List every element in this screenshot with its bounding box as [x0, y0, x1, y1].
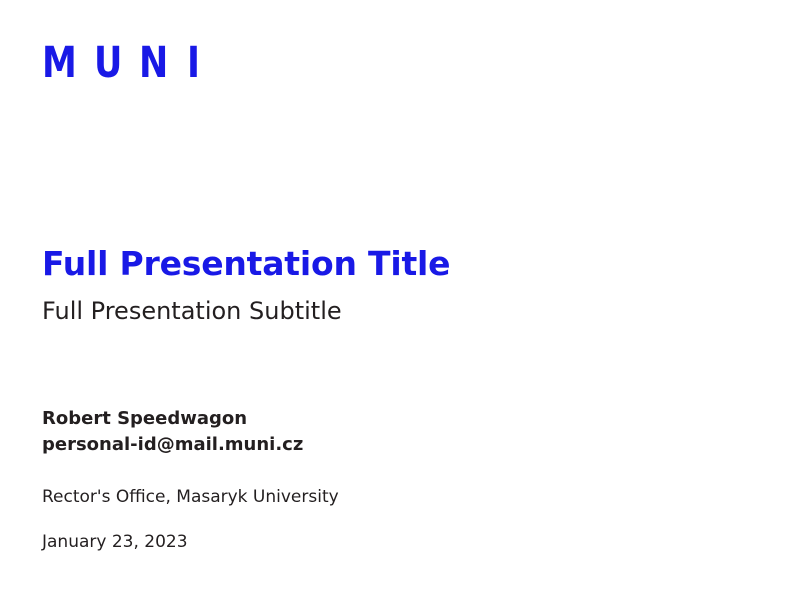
page-title: Full Presentation Title — [42, 243, 742, 285]
author-affiliation: Rector's Office, Masaryk University — [42, 485, 339, 509]
author-email: personal-id@mail.muni.cz — [42, 432, 742, 458]
presentation-title-slide: M U N I Full Presentation Title Full Pre… — [0, 0, 794, 596]
author-name: Robert Speedwagon — [42, 406, 742, 432]
logo-letter-u: U — [94, 40, 122, 85]
presentation-date: January 23, 2023 — [42, 530, 188, 554]
title-block: Full Presentation Title Full Presentatio… — [42, 243, 742, 327]
logo-letter-n: N — [139, 40, 168, 85]
logo-letter-m: M — [42, 40, 77, 85]
author-block: Robert Speedwagon personal-id@mail.muni.… — [42, 406, 742, 458]
logo-letter-i: I — [187, 40, 200, 85]
muni-logo: M U N I — [42, 40, 201, 84]
page-subtitle: Full Presentation Subtitle — [42, 295, 742, 327]
